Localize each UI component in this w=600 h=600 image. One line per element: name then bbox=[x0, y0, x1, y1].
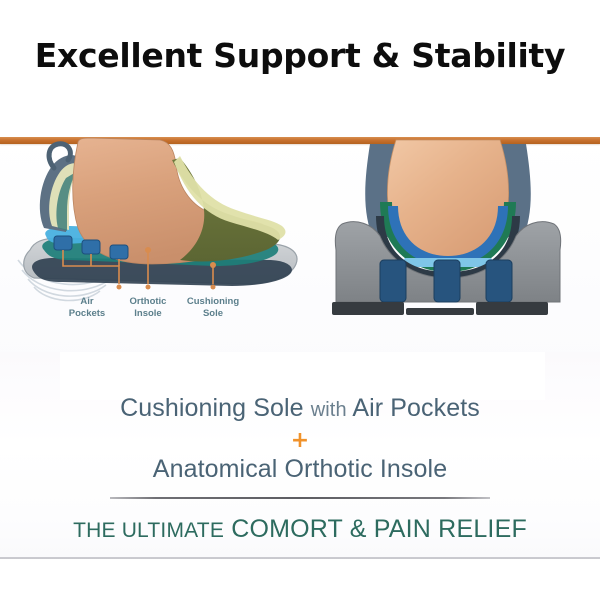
callout-2-line1: Cushioning bbox=[187, 296, 239, 307]
bottom-whitespace bbox=[0, 559, 600, 600]
benefit-line-anatomical: Anatomical Orthotic Insole bbox=[0, 455, 600, 484]
benefit-cushioning-suffix: Air Pockets bbox=[352, 394, 480, 422]
front-section-svg bbox=[318, 132, 600, 368]
copy-divider bbox=[110, 497, 490, 499]
callout-1-line2: Insole bbox=[134, 308, 161, 319]
benefit-line-cushioning: Cushioning Sole with Air Pockets bbox=[0, 394, 600, 423]
outsole-tread bbox=[332, 302, 548, 315]
page-title: Excellent Support & Stability bbox=[35, 36, 565, 75]
tagline-prefix: THE ULTIMATE bbox=[73, 519, 224, 542]
benefit-cushioning-prefix: Cushioning Sole bbox=[120, 394, 304, 422]
callout-0-line2: Pockets bbox=[69, 308, 105, 319]
callout-0-line1: Air bbox=[80, 296, 94, 307]
callout-2-line2: Sole bbox=[203, 308, 223, 319]
tagline: THE ULTIMATE COMORT & PAIN RELIEF bbox=[0, 515, 600, 544]
illustration-band: Air Pockets Orthotic Insole Cushioning S… bbox=[0, 132, 600, 368]
callout-1-line1: Orthotic bbox=[130, 296, 167, 307]
air-pocket-columns bbox=[380, 260, 512, 302]
title-bar: Excellent Support & Stability bbox=[0, 0, 600, 138]
foot-sandal-side-cutaway-figure: Air Pockets Orthotic Insole Cushioning S… bbox=[0, 132, 320, 368]
callout-labels: Air Pockets Orthotic Insole Cushioning S… bbox=[69, 296, 240, 319]
tagline-main: COMORT & PAIN RELIEF bbox=[231, 515, 527, 543]
copy-inner-band bbox=[60, 352, 545, 400]
side-cutaway-svg: Air Pockets Orthotic Insole Cushioning S… bbox=[0, 132, 320, 368]
benefit-cushioning-with: with bbox=[311, 399, 347, 421]
promo-page: Excellent Support & Stability bbox=[0, 0, 600, 600]
benefits-copy-panel: Cushioning Sole with Air Pockets + Anato… bbox=[0, 352, 600, 558]
plus-icon: + bbox=[0, 430, 600, 452]
heel-front-cross-section-figure bbox=[318, 132, 600, 368]
